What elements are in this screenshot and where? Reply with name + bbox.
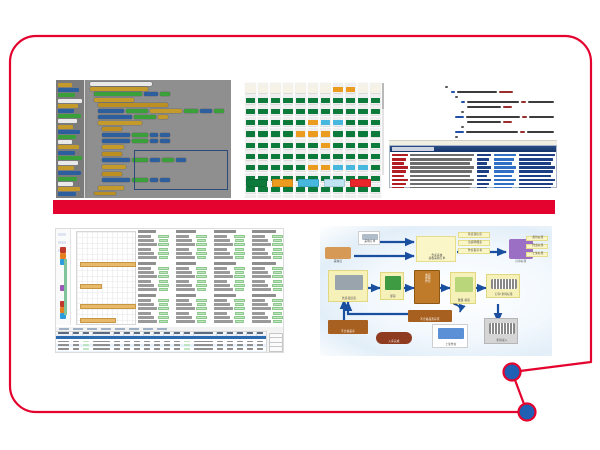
slot-cell[interactable] bbox=[283, 150, 294, 160]
param-block-11[interactable] bbox=[252, 294, 284, 324]
slot-cell[interactable] bbox=[283, 83, 294, 93]
slot-cell[interactable] bbox=[258, 195, 269, 198]
palette-block-21[interactable] bbox=[58, 192, 76, 196]
flow-node-n-reject[interactable]: 不合格品暂存区 bbox=[408, 310, 452, 322]
param-value[interactable] bbox=[235, 320, 244, 323]
block-2[interactable] bbox=[94, 92, 142, 96]
slot-cell[interactable] bbox=[370, 139, 381, 149]
slot-cell[interactable] bbox=[283, 105, 294, 115]
gantt-chart[interactable] bbox=[76, 231, 136, 325]
slot-cell[interactable] bbox=[270, 128, 281, 138]
slot-cell[interactable] bbox=[270, 195, 281, 198]
param-value[interactable] bbox=[159, 320, 168, 323]
block-5[interactable] bbox=[94, 98, 134, 102]
block-11[interactable] bbox=[200, 109, 212, 113]
param-value[interactable] bbox=[235, 239, 244, 242]
slot-cell[interactable] bbox=[283, 139, 294, 149]
slot-cell[interactable] bbox=[358, 83, 369, 93]
table-column-header[interactable] bbox=[217, 332, 223, 334]
slot-cell[interactable] bbox=[370, 117, 381, 127]
slot-cell[interactable] bbox=[358, 117, 369, 127]
param-value[interactable] bbox=[273, 256, 282, 259]
slot-cell[interactable] bbox=[358, 139, 369, 149]
param-value[interactable] bbox=[197, 248, 206, 251]
param-value[interactable] bbox=[235, 303, 244, 306]
param-value[interactable] bbox=[159, 271, 168, 274]
table-column-header[interactable] bbox=[227, 332, 233, 334]
flow-node-n-retbox[interactable]: 不合格品库 bbox=[328, 320, 368, 334]
table-column-header[interactable] bbox=[174, 332, 180, 334]
palette-block-11[interactable] bbox=[58, 140, 72, 144]
table-side-button-4[interactable] bbox=[269, 351, 283, 353]
param-value[interactable] bbox=[273, 271, 282, 274]
param-value[interactable] bbox=[158, 307, 169, 310]
param-value[interactable] bbox=[158, 316, 169, 319]
slot-cell[interactable] bbox=[283, 161, 294, 171]
slot-cell[interactable] bbox=[333, 161, 344, 171]
slot-cell[interactable] bbox=[320, 195, 331, 198]
param-value[interactable] bbox=[234, 307, 245, 310]
param-block-4[interactable] bbox=[176, 262, 210, 292]
slot-cell[interactable] bbox=[345, 161, 356, 171]
slot-cell[interactable] bbox=[245, 94, 256, 104]
slot-cell[interactable] bbox=[370, 128, 381, 138]
table-column-header[interactable] bbox=[247, 332, 253, 334]
flow-node-n-barcode[interactable]: 打印 条码标签 bbox=[486, 274, 520, 298]
slot-cell[interactable] bbox=[295, 139, 306, 149]
palette-block-3[interactable] bbox=[58, 99, 82, 103]
param-block-0[interactable] bbox=[138, 230, 172, 260]
param-value[interactable] bbox=[159, 256, 168, 259]
flow-node-n-order[interactable]: 采购订单 bbox=[358, 231, 380, 245]
param-value[interactable] bbox=[196, 307, 207, 310]
palette-block-16[interactable] bbox=[58, 166, 74, 170]
param-value[interactable] bbox=[196, 299, 207, 302]
palette-block-12[interactable] bbox=[58, 145, 79, 149]
block-0[interactable] bbox=[90, 82, 152, 86]
param-value[interactable] bbox=[234, 235, 245, 238]
palette-block-14[interactable] bbox=[58, 156, 82, 160]
slot-cell[interactable] bbox=[320, 105, 331, 115]
block-14[interactable] bbox=[134, 115, 156, 119]
palette-block-10[interactable] bbox=[58, 135, 76, 139]
block-18[interactable] bbox=[102, 133, 130, 137]
slot-cell[interactable] bbox=[283, 195, 294, 198]
table-column-header[interactable] bbox=[144, 332, 150, 334]
palette-block-20[interactable] bbox=[58, 187, 80, 191]
param-block-6[interactable] bbox=[214, 230, 248, 260]
param-value[interactable] bbox=[234, 284, 245, 287]
param-value[interactable] bbox=[272, 316, 283, 319]
table-column-header[interactable] bbox=[73, 332, 79, 334]
slot-cell[interactable] bbox=[370, 150, 381, 160]
slot-cell[interactable] bbox=[358, 94, 369, 104]
toolbar-button-1[interactable] bbox=[73, 328, 83, 330]
param-value[interactable] bbox=[159, 312, 168, 315]
param-value[interactable] bbox=[273, 239, 282, 242]
slot-cell[interactable] bbox=[358, 150, 369, 160]
slot-cell[interactable] bbox=[370, 184, 381, 194]
slot-cell[interactable] bbox=[308, 161, 319, 171]
slot-cell[interactable] bbox=[358, 105, 369, 115]
param-value[interactable] bbox=[273, 288, 282, 291]
record-table[interactable] bbox=[56, 327, 283, 353]
param-value[interactable] bbox=[272, 267, 283, 270]
param-value[interactable] bbox=[234, 299, 245, 302]
param-value[interactable] bbox=[196, 243, 207, 246]
slot-cell[interactable] bbox=[358, 195, 369, 198]
slot-cell[interactable] bbox=[308, 94, 319, 104]
toolbar-button-3[interactable] bbox=[101, 328, 111, 330]
param-value[interactable] bbox=[272, 275, 283, 278]
param-value[interactable] bbox=[159, 288, 168, 291]
slot-cell[interactable] bbox=[308, 150, 319, 160]
table-side-buttons[interactable] bbox=[266, 331, 283, 353]
slot-cell[interactable] bbox=[295, 117, 306, 127]
table-column-header[interactable] bbox=[83, 332, 89, 334]
param-value[interactable] bbox=[234, 252, 245, 255]
slot-cell[interactable] bbox=[295, 94, 306, 104]
param-value[interactable] bbox=[272, 299, 283, 302]
block-34[interactable] bbox=[102, 172, 122, 176]
slot-cell[interactable] bbox=[333, 83, 344, 93]
param-value[interactable] bbox=[272, 252, 283, 255]
block-35[interactable] bbox=[102, 178, 130, 182]
param-value[interactable] bbox=[273, 320, 282, 323]
slot-cell[interactable] bbox=[345, 139, 356, 149]
param-value[interactable] bbox=[197, 312, 206, 315]
slot-cell[interactable] bbox=[245, 117, 256, 127]
block-25[interactable] bbox=[160, 139, 170, 143]
flow-node-n-lbl2[interactable]: 托盘标签 bbox=[526, 244, 548, 249]
slot-cell[interactable] bbox=[370, 173, 381, 183]
block-27[interactable] bbox=[102, 152, 122, 156]
block-17[interactable] bbox=[102, 127, 122, 131]
param-value[interactable] bbox=[159, 303, 168, 306]
flow-node-n-scan[interactable]: 条码录入 bbox=[484, 318, 518, 344]
flow-node-n-lbl1[interactable]: 货位标签 bbox=[526, 236, 548, 241]
toolbar-button-6[interactable] bbox=[143, 328, 153, 330]
param-block-7[interactable] bbox=[214, 262, 248, 292]
slot-cell[interactable] bbox=[270, 94, 281, 104]
slot-cell[interactable] bbox=[333, 105, 344, 115]
slot-cell[interactable] bbox=[270, 117, 281, 127]
slot-cell[interactable] bbox=[258, 139, 269, 149]
slot-cell[interactable] bbox=[345, 117, 356, 127]
param-value[interactable] bbox=[159, 239, 168, 242]
palette-block-17[interactable] bbox=[58, 171, 81, 175]
flow-node-n-lbl3[interactable]: 上架标签 bbox=[526, 252, 548, 257]
param-value[interactable] bbox=[196, 316, 207, 319]
slot-cell[interactable] bbox=[258, 128, 269, 138]
palette-block-6[interactable] bbox=[58, 114, 81, 118]
palette-block-13[interactable] bbox=[58, 151, 75, 155]
block-8[interactable] bbox=[126, 109, 148, 113]
param-block-3[interactable] bbox=[176, 230, 210, 260]
slot-cell[interactable] bbox=[345, 195, 356, 198]
slot-cell[interactable] bbox=[258, 150, 269, 160]
slot-cell[interactable] bbox=[283, 117, 294, 127]
param-block-10[interactable] bbox=[252, 262, 284, 292]
param-value[interactable] bbox=[197, 280, 206, 283]
gantt-bar-3[interactable] bbox=[80, 318, 116, 323]
param-value[interactable] bbox=[158, 235, 169, 238]
param-value[interactable] bbox=[158, 299, 169, 302]
flow-node-n-putaway[interactable]: 上架作业 bbox=[432, 324, 468, 348]
palette-block-9[interactable] bbox=[58, 130, 80, 134]
flow-node-n-printer[interactable]: 打印标签 bbox=[508, 238, 534, 264]
slot-cell[interactable] bbox=[295, 161, 306, 171]
block-13[interactable] bbox=[98, 115, 132, 119]
toolbar-button-0[interactable] bbox=[59, 328, 69, 330]
param-value[interactable] bbox=[235, 288, 244, 291]
slot-cell[interactable] bbox=[295, 105, 306, 115]
block-7[interactable] bbox=[98, 109, 124, 113]
slot-cell[interactable] bbox=[270, 105, 281, 115]
param-block-2[interactable] bbox=[138, 294, 172, 324]
slot-cell[interactable] bbox=[333, 128, 344, 138]
param-value[interactable] bbox=[196, 267, 207, 270]
param-value[interactable] bbox=[158, 284, 169, 287]
slot-cell[interactable] bbox=[370, 94, 381, 104]
block-19[interactable] bbox=[132, 133, 148, 137]
panel-scheduling-sheet[interactable] bbox=[55, 228, 284, 353]
param-value[interactable] bbox=[273, 248, 282, 251]
table-column-header[interactable] bbox=[114, 332, 120, 334]
param-value[interactable] bbox=[196, 235, 207, 238]
table-column-header[interactable] bbox=[194, 332, 213, 334]
slot-cell[interactable] bbox=[270, 139, 281, 149]
slot-cell[interactable] bbox=[295, 150, 306, 160]
param-value[interactable] bbox=[235, 271, 244, 274]
rail-chip-0[interactable] bbox=[58, 233, 66, 236]
parameter-lists[interactable] bbox=[138, 230, 284, 325]
param-value[interactable] bbox=[197, 303, 206, 306]
param-value[interactable] bbox=[234, 267, 245, 270]
table-column-header[interactable] bbox=[184, 332, 190, 334]
slot-cell[interactable] bbox=[333, 195, 344, 198]
slot-cell[interactable] bbox=[308, 83, 319, 93]
flow-node-n-qty[interactable]: 数量 验货 bbox=[450, 272, 476, 304]
palette-block-7[interactable] bbox=[58, 119, 77, 123]
slot-cell[interactable] bbox=[245, 150, 256, 160]
block-9[interactable] bbox=[150, 109, 182, 113]
slot-cell[interactable] bbox=[308, 105, 319, 115]
grid-scrollbar[interactable] bbox=[382, 83, 385, 175]
param-value[interactable] bbox=[159, 280, 168, 283]
block-20[interactable] bbox=[150, 133, 158, 137]
param-value[interactable] bbox=[196, 284, 207, 287]
toolbar-button-2[interactable] bbox=[87, 328, 97, 330]
slot-cell[interactable] bbox=[320, 161, 331, 171]
param-value[interactable] bbox=[235, 248, 244, 251]
block-23[interactable] bbox=[132, 139, 148, 143]
slot-cell[interactable] bbox=[270, 150, 281, 160]
slot-cell[interactable] bbox=[345, 105, 356, 115]
flow-node-n-ng[interactable]: NG bbox=[450, 302, 460, 307]
param-value[interactable] bbox=[159, 248, 168, 251]
slot-cell[interactable] bbox=[270, 161, 281, 171]
flow-node-n-delivery[interactable]: 供应商送货 bbox=[328, 270, 368, 302]
palette-block-18[interactable] bbox=[58, 177, 77, 181]
param-value[interactable] bbox=[272, 284, 283, 287]
slot-cell[interactable] bbox=[308, 195, 319, 198]
block-39[interactable] bbox=[98, 186, 124, 190]
block-1[interactable] bbox=[90, 87, 148, 91]
table-column-header[interactable] bbox=[93, 332, 110, 334]
slot-cell[interactable] bbox=[258, 83, 269, 93]
table-column-header[interactable] bbox=[237, 332, 243, 334]
log-row[interactable] bbox=[391, 186, 555, 188]
slot-cell[interactable] bbox=[358, 161, 369, 171]
toolbar-button-7[interactable] bbox=[157, 328, 167, 330]
param-value[interactable] bbox=[234, 275, 245, 278]
slot-cell[interactable] bbox=[295, 195, 306, 198]
slot-cell[interactable] bbox=[308, 128, 319, 138]
table-column-header[interactable] bbox=[124, 332, 130, 334]
param-value[interactable] bbox=[234, 316, 245, 319]
slot-cell[interactable] bbox=[320, 83, 331, 93]
flow-node-n-inspect[interactable]: 收货检验作业 bbox=[414, 270, 440, 304]
flow-node-n-list3[interactable]: 作业指示书 bbox=[458, 248, 490, 254]
flow-node-n-staff[interactable]: 采购员 bbox=[324, 246, 352, 264]
param-value[interactable] bbox=[272, 307, 283, 310]
param-value[interactable] bbox=[235, 256, 244, 259]
palette-block-4[interactable] bbox=[58, 104, 78, 108]
panel-warehouse-flowchart[interactable]: 采购订单采购员仓库系统接收采购订单供应商信息出货明细表作业指示书打印标签货位标签… bbox=[320, 226, 552, 356]
panel-code-editor[interactable] bbox=[389, 80, 557, 188]
slot-cell[interactable] bbox=[245, 161, 256, 171]
slot-cell[interactable] bbox=[245, 195, 256, 198]
slot-cell[interactable] bbox=[370, 105, 381, 115]
gantt-bar-1[interactable] bbox=[80, 304, 136, 309]
param-value[interactable] bbox=[158, 275, 169, 278]
param-value[interactable] bbox=[234, 243, 245, 246]
slot-cell[interactable] bbox=[320, 94, 331, 104]
block-21[interactable] bbox=[160, 133, 170, 137]
param-value[interactable] bbox=[273, 312, 282, 315]
param-value[interactable] bbox=[196, 275, 207, 278]
slot-cell[interactable] bbox=[295, 128, 306, 138]
slot-cell[interactable] bbox=[245, 128, 256, 138]
flow-node-n-unload[interactable]: 卸货 bbox=[380, 272, 404, 300]
param-value[interactable] bbox=[235, 312, 244, 315]
param-value[interactable] bbox=[273, 280, 282, 283]
param-value[interactable] bbox=[235, 280, 244, 283]
slot-cell[interactable] bbox=[333, 94, 344, 104]
slot-cell[interactable] bbox=[333, 117, 344, 127]
param-value[interactable] bbox=[196, 252, 207, 255]
slot-cell[interactable] bbox=[333, 150, 344, 160]
slot-cell[interactable] bbox=[320, 150, 331, 160]
panel-visual-block-editor[interactable] bbox=[56, 80, 231, 198]
block-24[interactable] bbox=[150, 139, 158, 143]
palette-block-5[interactable] bbox=[58, 109, 74, 113]
slot-cell[interactable] bbox=[345, 128, 356, 138]
flow-node-n-list2[interactable]: 出货明细表 bbox=[458, 240, 490, 246]
sheet-side-rail[interactable] bbox=[56, 229, 71, 325]
param-value[interactable] bbox=[197, 239, 206, 242]
block-12[interactable] bbox=[214, 109, 224, 113]
table-row[interactable] bbox=[56, 351, 283, 353]
slot-cell[interactable] bbox=[333, 139, 344, 149]
panel-slot-status-grid[interactable] bbox=[243, 80, 384, 198]
block-4[interactable] bbox=[160, 92, 170, 96]
slot-cell[interactable] bbox=[370, 161, 381, 171]
slot-cell[interactable] bbox=[283, 94, 294, 104]
block-palette[interactable] bbox=[56, 80, 85, 198]
palette-block-2[interactable] bbox=[58, 93, 75, 97]
block-33[interactable] bbox=[102, 165, 126, 169]
param-value[interactable] bbox=[158, 243, 169, 246]
palette-block-19[interactable] bbox=[58, 182, 73, 186]
slot-cell[interactable] bbox=[320, 128, 331, 138]
output-console[interactable] bbox=[389, 145, 557, 188]
param-value[interactable] bbox=[197, 256, 206, 259]
block-28[interactable] bbox=[102, 158, 130, 162]
block-26[interactable] bbox=[102, 145, 124, 149]
block-15[interactable] bbox=[158, 115, 168, 119]
param-block-1[interactable] bbox=[138, 262, 172, 292]
slot-cell[interactable] bbox=[370, 83, 381, 93]
slot-cell[interactable] bbox=[308, 139, 319, 149]
param-block-5[interactable] bbox=[176, 294, 210, 324]
rail-chip-1[interactable] bbox=[58, 241, 66, 244]
slot-cell[interactable] bbox=[308, 117, 319, 127]
palette-block-1[interactable] bbox=[58, 88, 79, 92]
palette-block-15[interactable] bbox=[58, 161, 78, 165]
param-value[interactable] bbox=[273, 303, 282, 306]
table-column-header[interactable] bbox=[164, 332, 170, 334]
toolbar-button-5[interactable] bbox=[129, 328, 139, 330]
palette-block-8[interactable] bbox=[58, 125, 73, 129]
slot-cell[interactable] bbox=[283, 128, 294, 138]
slot-cell[interactable] bbox=[270, 83, 281, 93]
block-6[interactable] bbox=[98, 103, 168, 107]
slot-cell[interactable] bbox=[245, 83, 256, 93]
slot-cell[interactable] bbox=[258, 105, 269, 115]
code-editor-area[interactable] bbox=[389, 80, 557, 140]
block-22[interactable] bbox=[102, 139, 130, 143]
slot-cell[interactable] bbox=[345, 150, 356, 160]
slot-cell[interactable] bbox=[258, 94, 269, 104]
slot-cell[interactable] bbox=[245, 139, 256, 149]
param-value[interactable] bbox=[197, 271, 206, 274]
flow-node-n-system[interactable]: 仓库系统接收采购订单 bbox=[416, 236, 456, 262]
slot-cell[interactable] bbox=[358, 128, 369, 138]
toolbar-button-4[interactable] bbox=[115, 328, 125, 330]
param-value[interactable] bbox=[197, 288, 206, 291]
param-value[interactable] bbox=[158, 252, 169, 255]
gantt-bar-2[interactable] bbox=[80, 284, 102, 289]
slot-cell[interactable] bbox=[320, 117, 331, 127]
param-block-8[interactable] bbox=[214, 294, 248, 324]
slot-cell[interactable] bbox=[258, 161, 269, 171]
table-column-header[interactable] bbox=[58, 332, 69, 334]
block-40[interactable] bbox=[94, 192, 116, 195]
block-canvas[interactable] bbox=[88, 80, 231, 198]
param-value[interactable] bbox=[158, 267, 169, 270]
slot-cell[interactable] bbox=[295, 83, 306, 93]
flow-node-n-list1[interactable]: 供应商信息 bbox=[458, 232, 490, 238]
block-10[interactable] bbox=[184, 109, 198, 113]
slot-cell[interactable] bbox=[258, 117, 269, 127]
slot-cell[interactable] bbox=[345, 94, 356, 104]
param-value[interactable] bbox=[272, 243, 283, 246]
slot-cell[interactable] bbox=[245, 105, 256, 115]
block-16[interactable] bbox=[98, 121, 142, 125]
palette-block-0[interactable] bbox=[58, 83, 72, 87]
